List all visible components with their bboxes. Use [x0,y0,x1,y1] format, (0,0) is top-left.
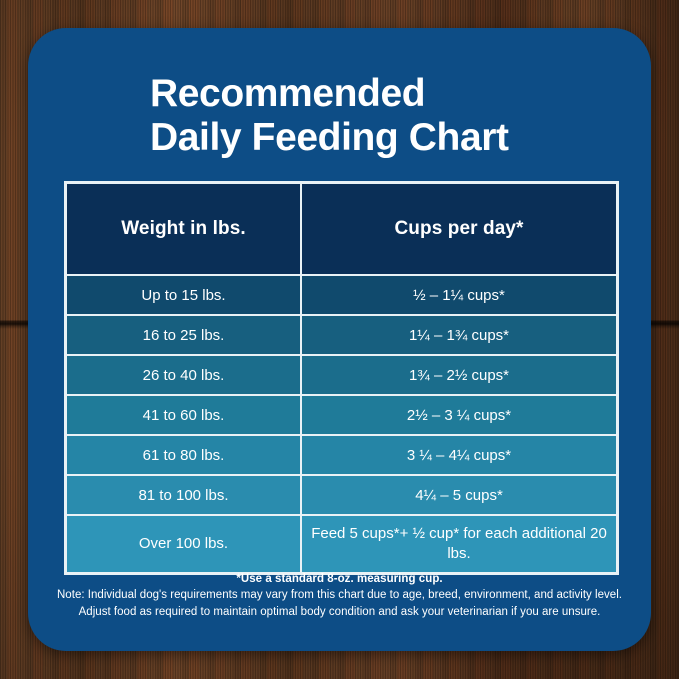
cell-weight: 61 to 80 lbs. [66,435,301,475]
column-header-cups: Cups per day* [301,183,617,275]
table-header-row: Weight in lbs. Cups per day* [66,183,617,275]
cell-weight: 26 to 40 lbs. [66,355,301,395]
cell-cups: 3 ¼ – 4¼ cups* [301,435,617,475]
table-body: Up to 15 lbs. ½ – 1¼ cups* 16 to 25 lbs.… [66,275,617,573]
page-title-line-2: Daily Feeding Chart [150,116,611,160]
table-row: 81 to 100 lbs. 4¼ – 5 cups* [66,475,617,515]
cell-weight: 16 to 25 lbs. [66,315,301,355]
table-row: 61 to 80 lbs. 3 ¼ – 4¼ cups* [66,435,617,475]
table-row: Over 100 lbs. Feed 5 cups*+ ½ cup* for e… [66,515,617,573]
footnotes: *Use a standard 8-oz. measuring cup. Not… [28,573,651,620]
cell-weight: 41 to 60 lbs. [66,395,301,435]
table-row: Up to 15 lbs. ½ – 1¼ cups* [66,275,617,315]
table-header: Weight in lbs. Cups per day* [66,183,617,275]
cell-weight: Over 100 lbs. [66,515,301,573]
table-row: 16 to 25 lbs. 1¼ – 1¾ cups* [66,315,617,355]
cell-cups: 1¼ – 1¾ cups* [301,315,617,355]
cell-cups: Feed 5 cups*+ ½ cup* for each additional… [301,515,617,573]
page-title: Recommended Daily Feeding Chart [28,28,651,161]
cell-weight: Up to 15 lbs. [66,275,301,315]
cell-cups: ½ – 1¼ cups* [301,275,617,315]
cell-cups: 4¼ – 5 cups* [301,475,617,515]
column-header-weight: Weight in lbs. [66,183,301,275]
table-row: 41 to 60 lbs. 2½ – 3 ¼ cups* [66,395,617,435]
page-title-line-1: Recommended [150,72,611,116]
cell-cups: 2½ – 3 ¼ cups* [301,395,617,435]
feeding-table: Weight in lbs. Cups per day* Up to 15 lb… [64,181,619,575]
footnote-note-line-1: Note: Individual dog's requirements may … [50,587,629,604]
cell-cups: 1¾ – 2½ cups* [301,355,617,395]
cell-weight: 81 to 100 lbs. [66,475,301,515]
feeding-chart-card: Recommended Daily Feeding Chart Weight i… [28,28,651,651]
footnote-measuring-cup: *Use a standard 8-oz. measuring cup. [50,573,629,585]
table-row: 26 to 40 lbs. 1¾ – 2½ cups* [66,355,617,395]
footnote-note-line-2: Adjust food as required to maintain opti… [50,604,629,621]
